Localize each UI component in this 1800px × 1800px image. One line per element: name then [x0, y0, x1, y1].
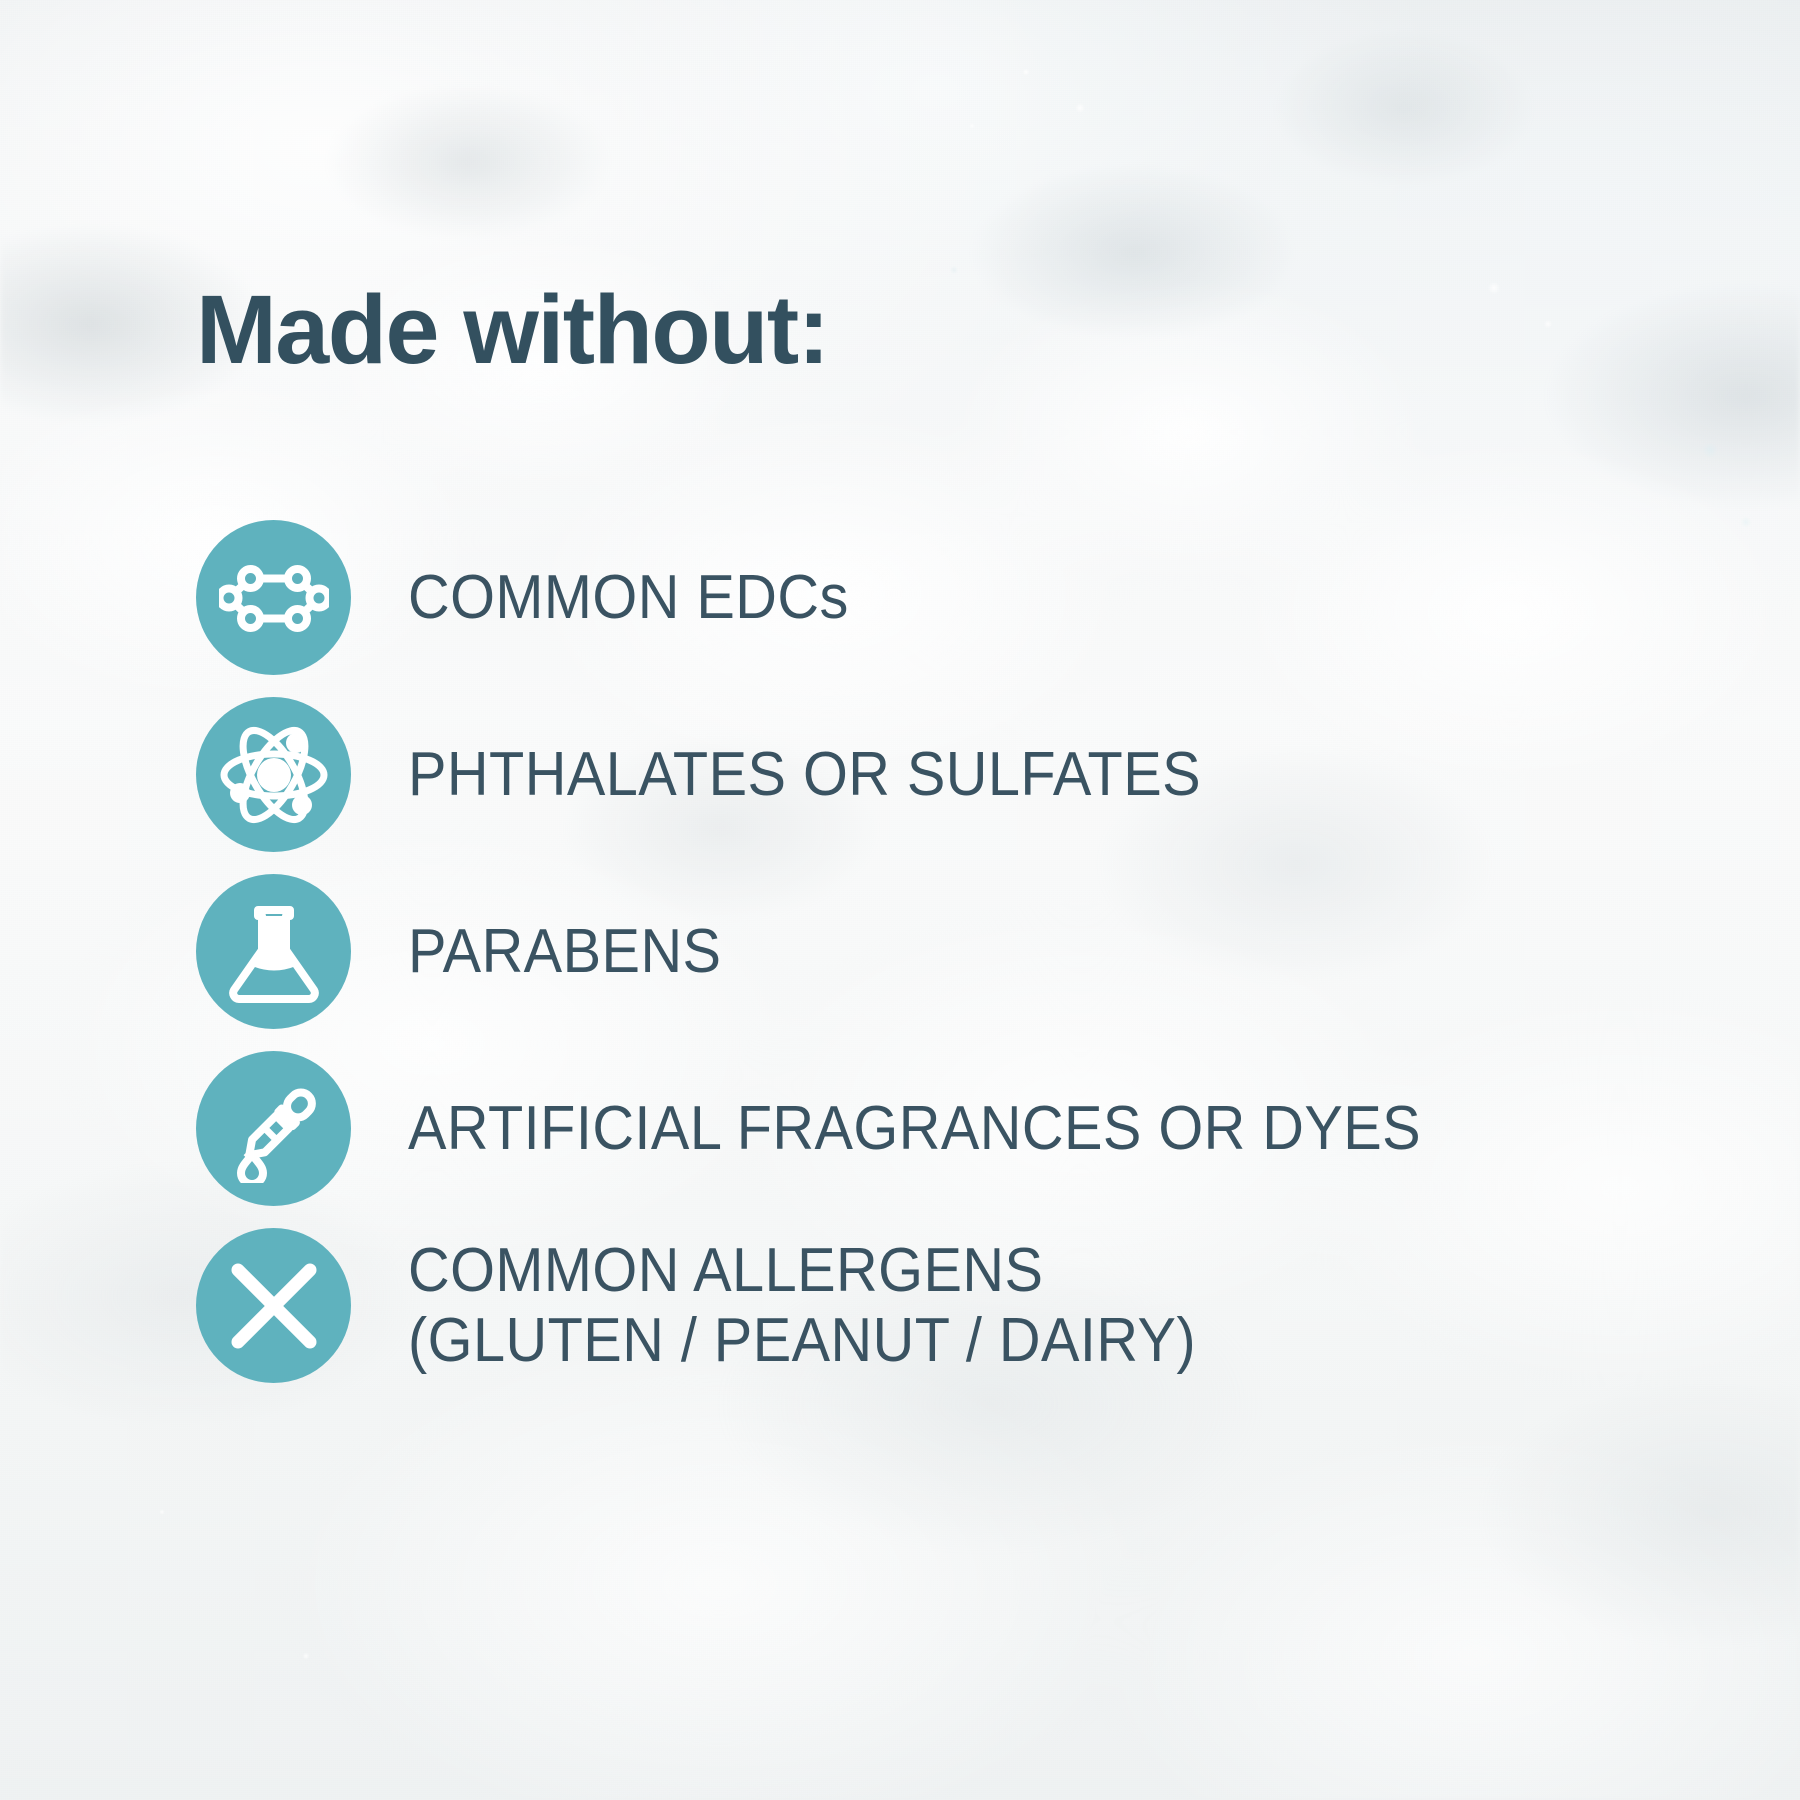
flask-icon [196, 874, 351, 1029]
list-item-label: COMMON EDCs [408, 565, 849, 631]
list-item: PARABENS [196, 874, 1646, 1029]
list-item-label-line1: COMMON ALLERGENS [408, 1236, 1043, 1305]
atom-icon [196, 697, 351, 852]
dropper-icon [196, 1051, 351, 1206]
made-without-list: COMMON EDCs [196, 520, 1646, 1383]
molecule-hexagon-icon [196, 520, 351, 675]
list-item: COMMON ALLERGENS (GLUTEN / PEANUT / DAIR… [196, 1228, 1646, 1383]
list-item-label: ARTIFICIAL FRAGRANCES OR DYES [408, 1096, 1421, 1162]
list-item-label: PHTHALATES OR SULFATES [408, 742, 1201, 808]
list-item: COMMON EDCs [196, 520, 1646, 675]
page-title: Made without: [196, 281, 828, 378]
list-item-label-line2: (GLUTEN / PEANUT / DAIRY) [408, 1306, 1196, 1375]
x-mark-icon [196, 1228, 351, 1383]
promo-graphic: Made without: [0, 0, 1800, 1800]
list-item-label: PARABENS [408, 919, 721, 985]
list-item: ARTIFICIAL FRAGRANCES OR DYES [196, 1051, 1646, 1206]
list-item-label-multiline: COMMON ALLERGENS (GLUTEN / PEANUT / DAIR… [408, 1236, 1196, 1375]
list-item: PHTHALATES OR SULFATES [196, 697, 1646, 852]
content-layer: Made without: [0, 0, 1800, 1800]
